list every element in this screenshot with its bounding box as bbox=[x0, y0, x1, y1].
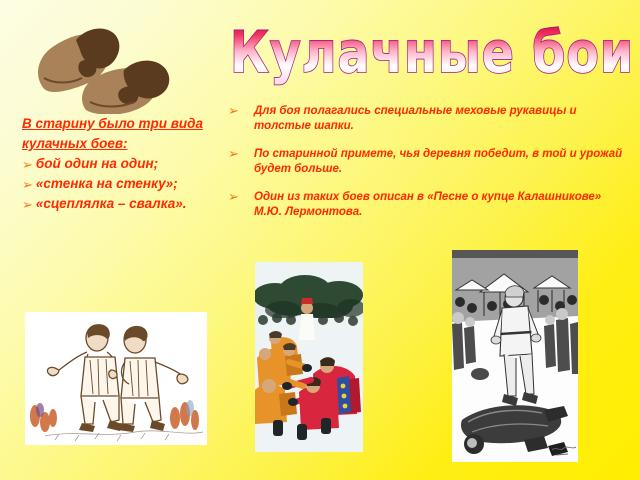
left-list-item-1: ➢бой один на один; bbox=[22, 154, 218, 174]
slide-title: Кулачные бои bbox=[228, 14, 640, 90]
arrow-bullet-icon: ➢ bbox=[22, 159, 33, 172]
right-list-item-2: ➢ По старинной примете, чья деревня побе… bbox=[228, 147, 628, 176]
right-list-item-1: ➢ Для боя полагались специальные меховые… bbox=[228, 104, 628, 133]
arrow-bullet-icon: ➢ bbox=[22, 199, 33, 212]
wordart-title-glyphs: Кулачные бои bbox=[230, 20, 634, 86]
left-list-item-2: ➢«стенка на стенку»; bbox=[22, 174, 218, 194]
right-list-item-1-label: Для боя полагались специальные меховые р… bbox=[254, 105, 577, 132]
right-text-block: ➢ Для боя полагались специальные меховые… bbox=[228, 104, 628, 219]
wordart-title-text: Кулачные бои bbox=[228, 14, 640, 90]
arrow-bullet-icon: ➢ bbox=[228, 191, 239, 204]
left-list-item-2-label: «стенка на стенку»; bbox=[36, 176, 178, 191]
left-lead-line-1: В старину было три вида bbox=[22, 114, 218, 134]
arrow-bullet-icon: ➢ bbox=[22, 179, 33, 192]
left-list-item-1-label: бой один на один; bbox=[36, 156, 158, 171]
arrow-bullet-icon: ➢ bbox=[228, 148, 239, 161]
left-text-block: В старину было три вида кулачных боев: ➢… bbox=[22, 114, 218, 214]
left-list-item-3-label: «сцеплялка – свалка». bbox=[36, 196, 187, 211]
duel-illustration-image bbox=[25, 312, 207, 445]
wall-fight-photo-image bbox=[255, 262, 363, 452]
arrow-bullet-icon: ➢ bbox=[228, 105, 239, 118]
left-lead-line-2: кулачных боев: bbox=[22, 134, 218, 154]
left-list-item-3: ➢«сцеплялка – свалка». bbox=[22, 194, 218, 214]
mittens-clipart-image bbox=[24, 18, 192, 114]
right-list-item-2-label: По старинной примете, чья деревня победи… bbox=[254, 148, 622, 175]
slide-canvas: Кулачные бои В старину было три вида кул… bbox=[0, 0, 640, 480]
right-list-item-3: ➢ Один из таких боев описан в «Песне о к… bbox=[228, 190, 628, 219]
right-list-item-3-label: Один из таких боев описан в «Песне о куп… bbox=[254, 191, 601, 218]
kalashnikov-illustration-image bbox=[452, 250, 578, 462]
